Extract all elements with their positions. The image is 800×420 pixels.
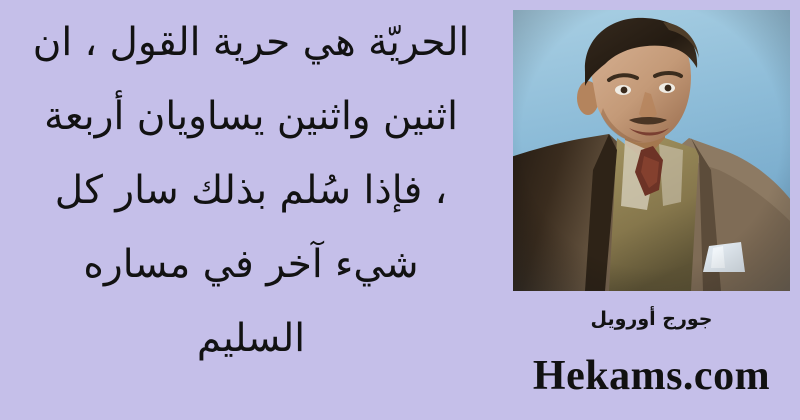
quote-line-4: شيء آخر في مساره: [4, 228, 498, 302]
author-portrait-photo: [513, 10, 790, 291]
quote-line-1: الحريّة هي حرية القول ، ان: [4, 6, 498, 80]
portrait-illustration: [513, 10, 790, 291]
quote-text-block: الحريّة هي حرية القول ، ان اثنين واثنين …: [4, 6, 498, 414]
quote-card: الحريّة هي حرية القول ، ان اثنين واثنين …: [0, 0, 800, 420]
quote-line-2: اثنين واثنين يساويان أربعة: [4, 80, 498, 154]
site-watermark: Hekams.com: [513, 352, 790, 400]
author-name: جورج أورويل: [513, 308, 790, 330]
photo-vignette: [513, 10, 790, 291]
quote-line-5: السليم: [4, 302, 498, 376]
quote-line-3: ، فإذا سُلم بذلك سار كل: [4, 154, 498, 228]
